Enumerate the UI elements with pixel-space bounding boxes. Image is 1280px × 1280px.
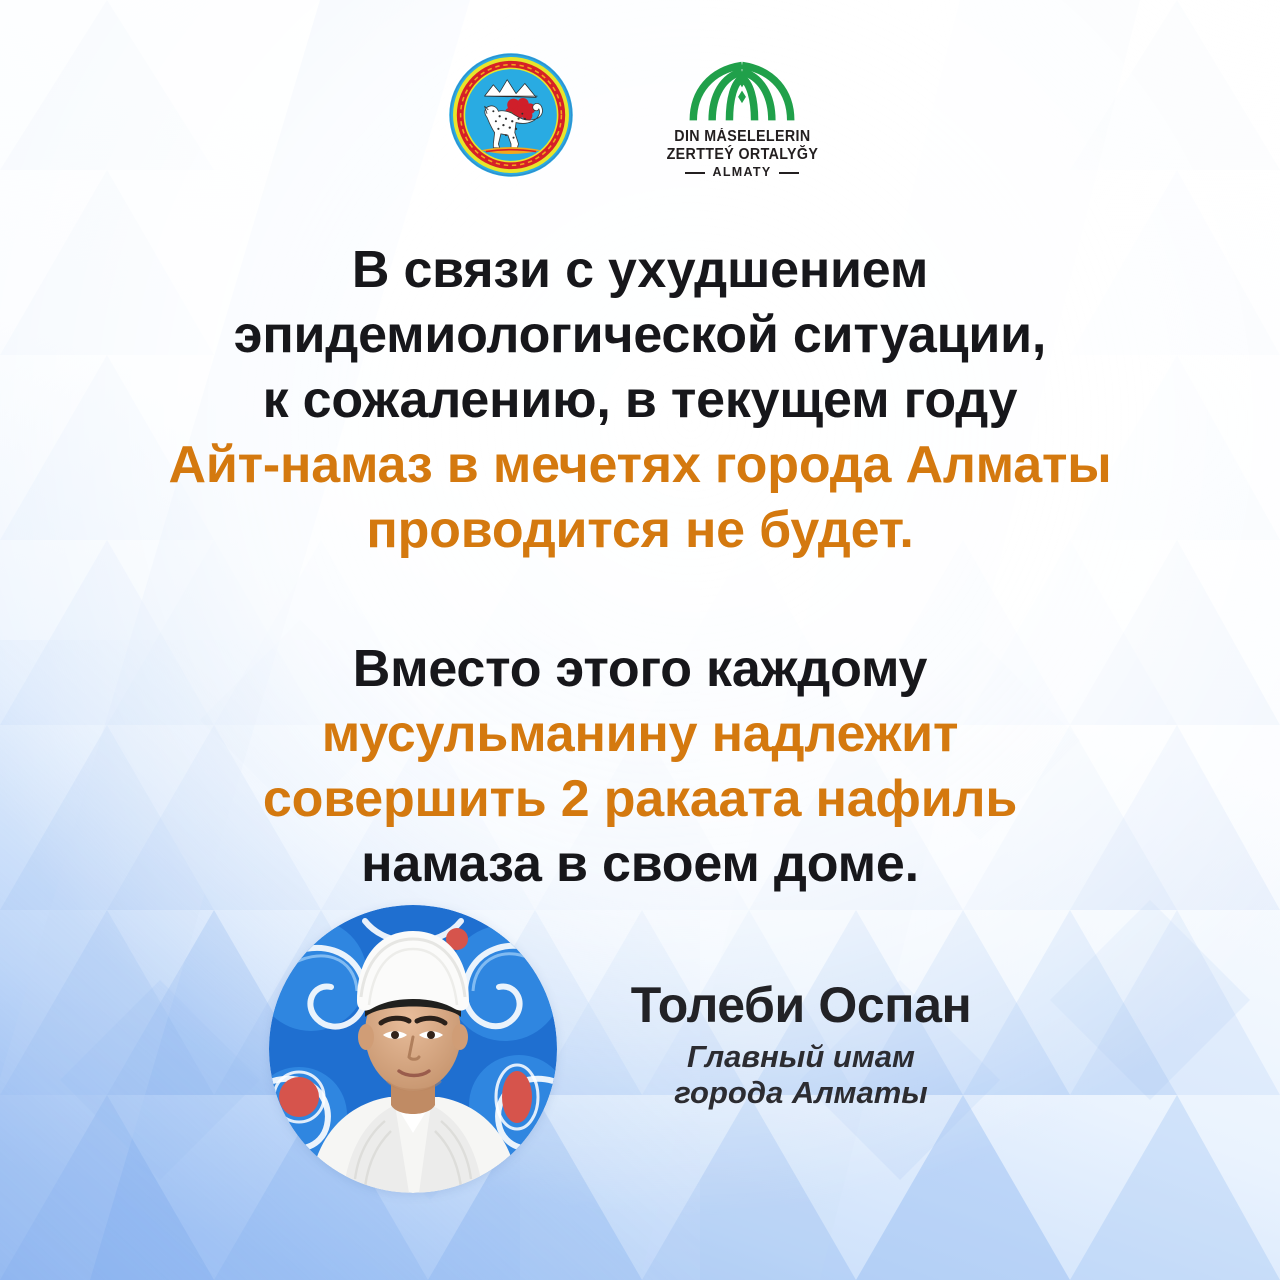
dmzo-emblem-icon <box>679 56 805 122</box>
dash-left-icon <box>685 172 705 174</box>
headline-line: В связи с ухудшением <box>80 238 1200 303</box>
paragraph-spacer <box>80 563 1200 637</box>
speaker-role: Главный имам города Алматы <box>591 1039 1011 1111</box>
dmzo-city: ALMATY <box>713 166 772 179</box>
poster-content: DIN MÁSELELERIN ZERTTEÝ ORTALYĞY ALMATY … <box>0 0 1280 1280</box>
headline-line: к сожалению, в текущем году <box>80 368 1200 433</box>
almaty-coat-of-arms-icon <box>448 52 574 178</box>
speaker-info: Толеби Оспан Главный имам города Алматы <box>591 893 1011 1111</box>
speaker-block: Толеби Оспан Главный имам города Алматы <box>0 893 1280 1223</box>
dmzo-wordmark: DIN MÁSELELERIN ZERTTEÝ ORTALYĞY ALMATY <box>660 128 825 179</box>
dmzo-line1: DIN MÁSELELERIN <box>666 128 818 146</box>
headline-line-accent: совершить 2 ракаата нафиль <box>80 767 1200 832</box>
headline-line: намаза в своем доме. <box>80 832 1200 897</box>
dmzo-line2: ZERTTEÝ ORTALYĞY <box>666 146 818 164</box>
avatar <box>269 905 557 1193</box>
headline-line: Вместо этого каждому <box>80 637 1200 702</box>
poster-root: DIN MÁSELELERIN ZERTTEÝ ORTALYĞY ALMATY … <box>0 0 1280 1280</box>
headline-paragraph-1: В связи с ухудшением эпидемиологической … <box>80 238 1200 563</box>
headline-line-accent: Айт-намаз в мечетях города Алматы <box>80 433 1200 498</box>
speaker-role-line2: города Алматы <box>591 1075 1011 1111</box>
dmzo-city-row: ALMATY <box>660 166 825 179</box>
headline-line-accent: мусульманину надлежит <box>80 702 1200 767</box>
speaker-role-line1: Главный имам <box>591 1039 1011 1075</box>
headline-line-accent: проводится не будет. <box>80 498 1200 563</box>
dash-right-icon <box>779 172 799 174</box>
speaker-name: Толеби Оспан <box>591 977 1011 1033</box>
headline-block: В связи с ухудшением эпидемиологической … <box>0 238 1280 897</box>
logo-row: DIN MÁSELELERIN ZERTTEÝ ORTALYĞY ALMATY <box>0 52 1280 179</box>
speaker-portrait-avatar <box>269 905 557 1193</box>
headline-paragraph-2: Вместо этого каждому мусульманину надлеж… <box>80 637 1200 897</box>
headline-line: эпидемиологической ситуации, <box>80 303 1200 368</box>
dmzo-logo: DIN MÁSELELERIN ZERTTEÝ ORTALYĞY ALMATY <box>652 52 832 179</box>
